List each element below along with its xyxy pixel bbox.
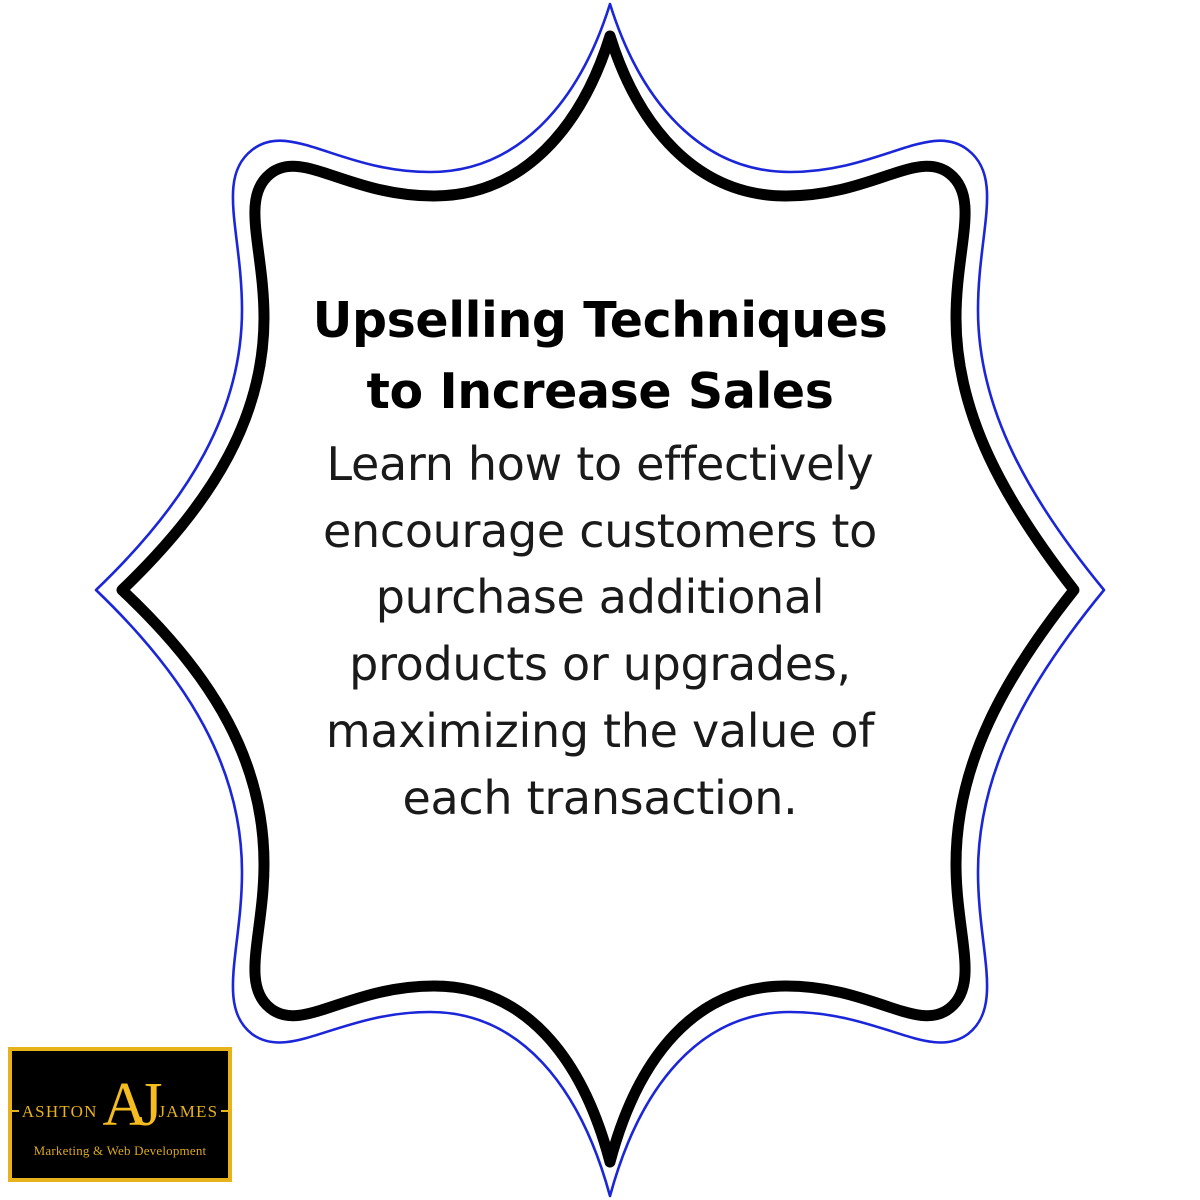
text-block: Upselling Techniques to Increase Sales L… xyxy=(270,285,930,831)
logo-right-word: JAMES xyxy=(155,1103,221,1120)
page-title: Upselling Techniques to Increase Sales xyxy=(270,285,930,427)
logo-monogram: AJ xyxy=(101,1074,156,1136)
quote-card: Upselling Techniques to Increase Sales L… xyxy=(0,0,1200,1200)
logo-right-rule-icon xyxy=(221,1110,232,1112)
logo-tagline: Marketing & Web Development xyxy=(12,1143,228,1159)
logo-wordmark-row: ASHTON AJ JAMES xyxy=(12,1091,228,1131)
body-text: Learn how to effectively encourage custo… xyxy=(270,431,930,831)
logo-left-rule-icon xyxy=(8,1110,19,1112)
logo-left-word: ASHTON xyxy=(19,1103,101,1120)
brand-logo[interactable]: ASHTON AJ JAMES Marketing & Web Developm… xyxy=(8,1047,232,1182)
